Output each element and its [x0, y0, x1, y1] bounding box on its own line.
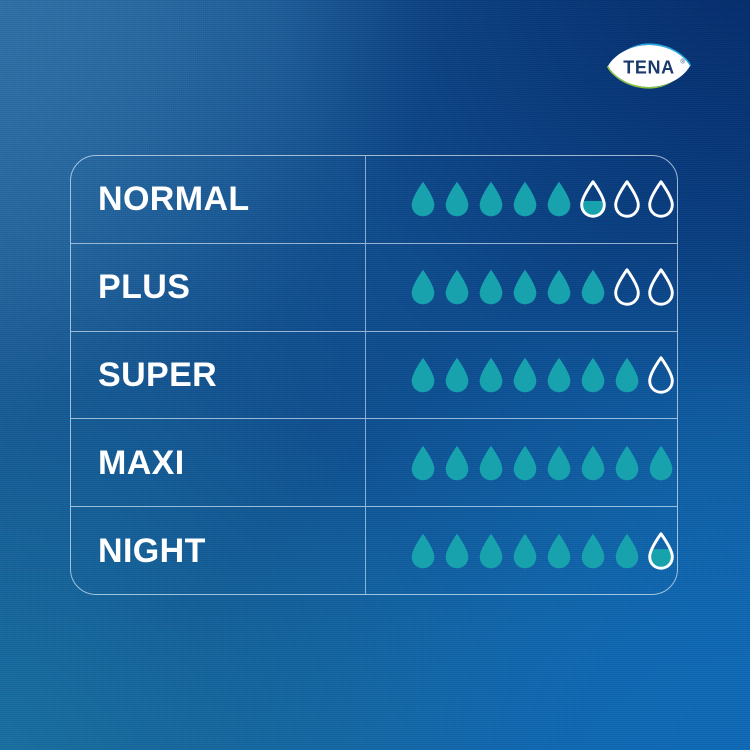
svg-text:®: ®: [681, 59, 686, 66]
row-absorbency-cell-maxi: [366, 419, 677, 506]
absorbency-drop-icon: [579, 356, 607, 394]
table-row[interactable]: SUPER: [71, 332, 677, 420]
absorbency-drop-icon: [409, 356, 437, 394]
absorbency-drop-icon: [647, 532, 675, 570]
absorbency-drop-icon: [511, 180, 539, 218]
absorbency-drop-icon: [647, 180, 675, 218]
row-label-cell-night: NIGHT: [71, 507, 366, 594]
absorbency-drop-icon: [409, 532, 437, 570]
absorbency-drop-icon: [545, 532, 573, 570]
row-label: SUPER: [98, 358, 217, 392]
absorbency-drop-icon: [409, 268, 437, 306]
absorbency-drop-icon: [409, 180, 437, 218]
svg-text:TENA: TENA: [623, 58, 674, 78]
row-label-cell-normal: NORMAL: [71, 156, 366, 243]
row-label-cell-plus: PLUS: [71, 244, 366, 331]
absorbency-drop-icon: [511, 268, 539, 306]
absorbency-drop-icon: [579, 180, 607, 218]
absorbency-drop-icon: [477, 356, 505, 394]
table-row[interactable]: PLUS: [71, 244, 677, 332]
absorbency-drop-icon: [511, 444, 539, 482]
absorbency-drop-icon: [647, 268, 675, 306]
absorbency-drop-icon: [511, 356, 539, 394]
absorbency-drop-icon: [613, 268, 641, 306]
absorbency-drop-icon: [477, 180, 505, 218]
absorbency-drop-icon: [545, 268, 573, 306]
absorbency-drop-icon: [579, 444, 607, 482]
absorbency-drop-icon: [477, 532, 505, 570]
absorbency-drop-icon: [613, 356, 641, 394]
absorbency-drop-icon: [579, 532, 607, 570]
absorbency-drop-icon: [613, 532, 641, 570]
table-row[interactable]: MAXI: [71, 419, 677, 507]
absorbency-drop-icon: [443, 180, 471, 218]
table-row[interactable]: NIGHT: [71, 507, 677, 594]
absorbency-drop-icon: [545, 180, 573, 218]
absorbency-drop-icon: [477, 444, 505, 482]
row-label: PLUS: [98, 270, 190, 304]
absorbency-drop-icon: [647, 444, 675, 482]
absorbency-drop-icon: [579, 268, 607, 306]
absorbency-drop-icon: [443, 356, 471, 394]
absorbency-drop-icon: [613, 180, 641, 218]
row-label-cell-maxi: MAXI: [71, 419, 366, 506]
tena-logo: TENA ®: [606, 42, 692, 90]
row-absorbency-cell-normal: [366, 156, 677, 243]
absorbency-drop-icon: [545, 356, 573, 394]
row-label: NIGHT: [98, 534, 206, 568]
row-absorbency-cell-super: [366, 332, 677, 419]
absorbency-drop-icon: [511, 532, 539, 570]
absorbency-drop-icon: [443, 532, 471, 570]
absorbency-drop-icon: [409, 444, 437, 482]
absorbency-drop-icon: [613, 444, 641, 482]
absorbency-drop-icon: [477, 268, 505, 306]
row-label-cell-super: SUPER: [71, 332, 366, 419]
row-label: MAXI: [98, 446, 185, 480]
row-absorbency-cell-night: [366, 507, 677, 594]
table-row[interactable]: NORMAL: [71, 156, 677, 244]
absorbency-drop-icon: [545, 444, 573, 482]
absorbency-table: NORMALPLUSSUPERMAXINIGHT: [70, 155, 678, 595]
absorbency-drop-icon: [443, 268, 471, 306]
absorbency-drop-icon: [647, 356, 675, 394]
row-absorbency-cell-plus: [366, 244, 677, 331]
absorbency-drop-icon: [443, 444, 471, 482]
row-label: NORMAL: [98, 182, 250, 216]
